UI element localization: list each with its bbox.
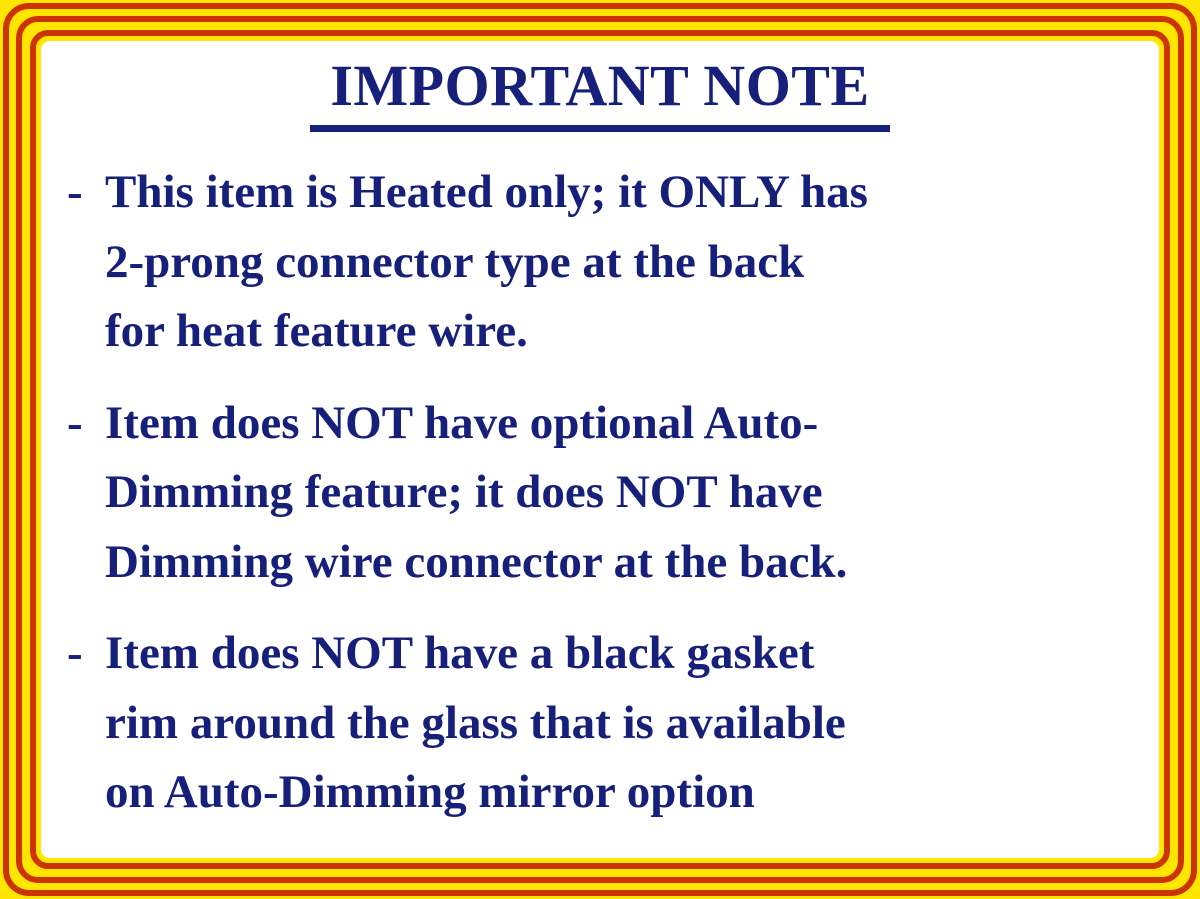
note-point: - Item does NOT have optional Auto- Dimm… bbox=[67, 389, 1137, 598]
note-title: IMPORTANT NOTE bbox=[41, 41, 1159, 115]
note-content-plate: IMPORTANT NOTE - This item is Heated onl… bbox=[41, 41, 1159, 858]
note-body: - This item is Heated only; it ONLY has … bbox=[41, 132, 1159, 828]
note-point-line: Dimming feature; it does NOT have bbox=[105, 458, 1137, 528]
note-point: - Item does NOT have a black gasket rim … bbox=[67, 619, 1137, 828]
note-point: - This item is Heated only; it ONLY has … bbox=[67, 158, 1137, 367]
bullet-dash-icon: - bbox=[67, 389, 105, 459]
note-point-line: 2-prong connector type at the back bbox=[105, 228, 1137, 298]
important-note-card: IMPORTANT NOTE - This item is Heated onl… bbox=[0, 0, 1200, 899]
note-point-line: rim around the glass that is available bbox=[105, 689, 1137, 759]
note-point-line: This item is Heated only; it ONLY has bbox=[105, 158, 1137, 228]
note-point-text: Item does NOT have optional Auto- Dimmin… bbox=[105, 389, 1137, 598]
note-point-line: Dimming wire connector at the back. bbox=[105, 528, 1137, 598]
note-title-underline bbox=[310, 125, 890, 132]
note-point-line: for heat feature wire. bbox=[105, 297, 1137, 367]
note-point-line: Item does NOT have a black gasket bbox=[105, 619, 1137, 689]
bullet-dash-icon: - bbox=[67, 158, 105, 228]
bullet-dash-icon: - bbox=[67, 619, 105, 689]
note-point-line: Item does NOT have optional Auto- bbox=[105, 389, 1137, 459]
note-point-line: on Auto-Dimming mirror option bbox=[105, 758, 1137, 828]
note-point-text: Item does NOT have a black gasket rim ar… bbox=[105, 619, 1137, 828]
note-point-text: This item is Heated only; it ONLY has 2-… bbox=[105, 158, 1137, 367]
